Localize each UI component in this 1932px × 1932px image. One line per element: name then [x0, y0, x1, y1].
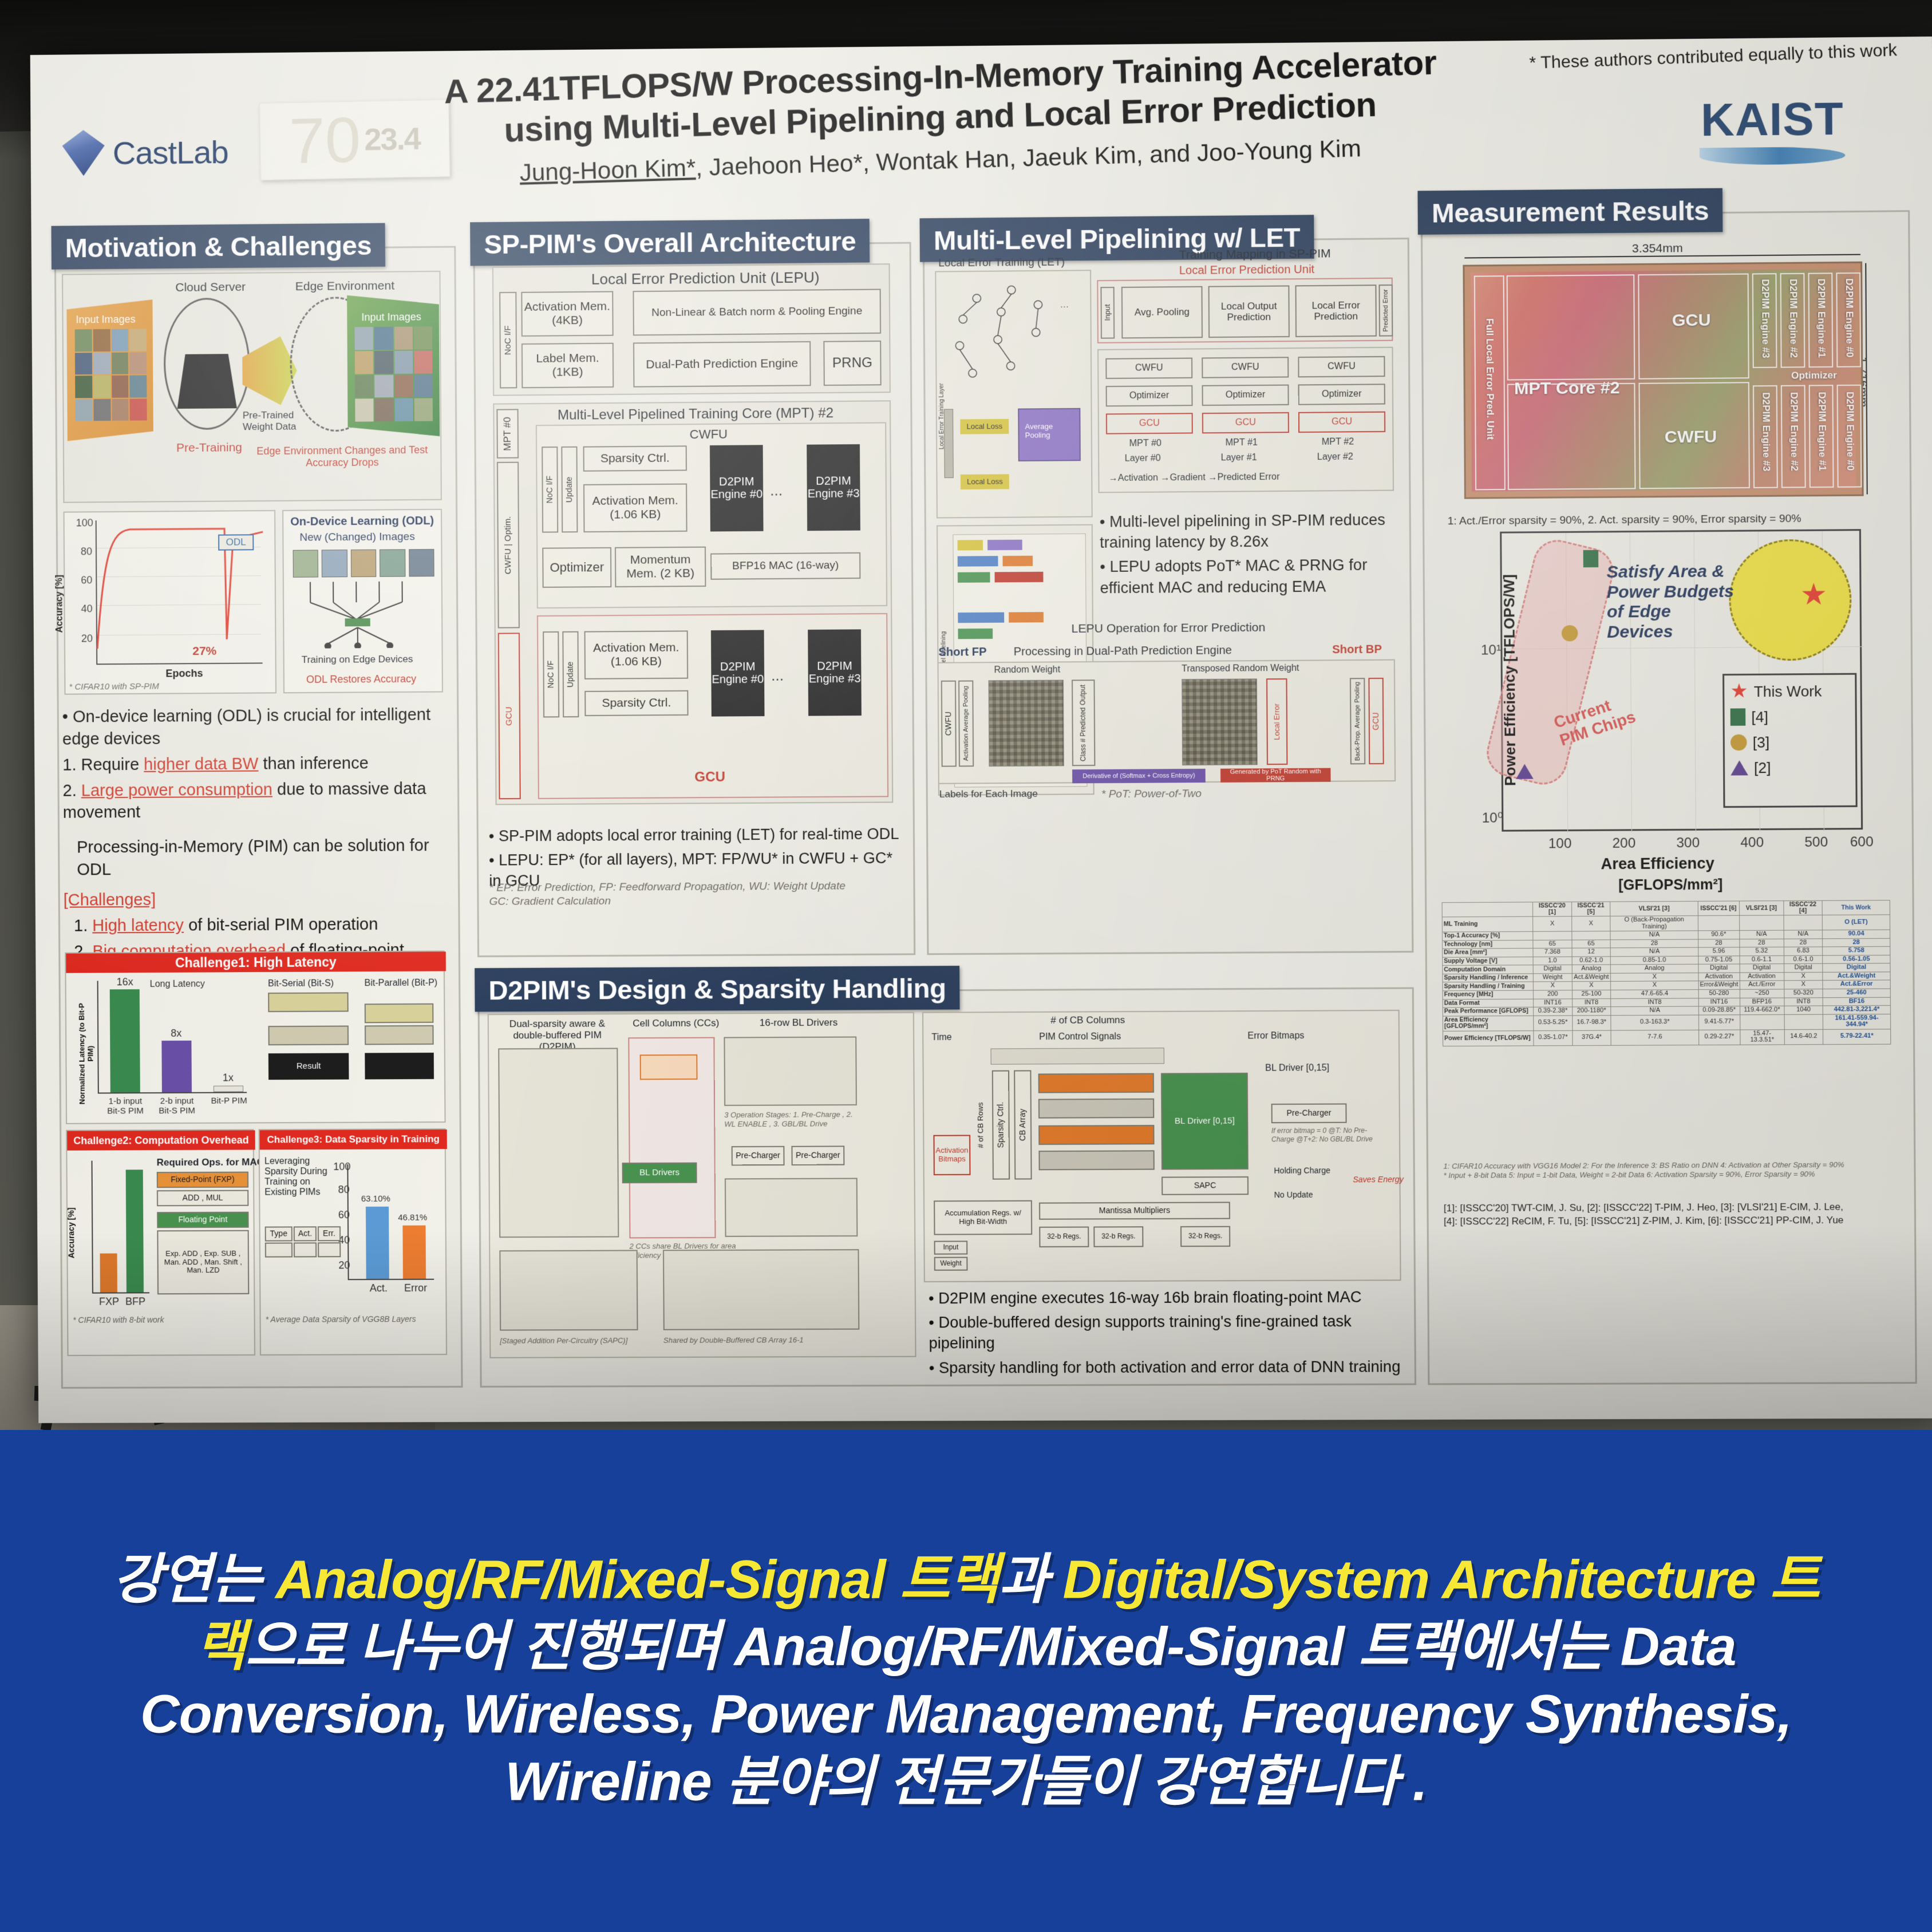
cwfu-sparsity-ctrl: Sparsity Ctrl. [583, 445, 687, 472]
die-label-lepu: Full Local Error Pred. Unit [1483, 318, 1496, 440]
time-label: Time [931, 1033, 951, 1043]
bullet-odl-crucial: • On-device learning (ODL) is crucial fo… [62, 704, 453, 750]
lepu-title: Local Error Prediction Unit (LEPU) [591, 268, 820, 289]
challenge-bullet-1: 1. High latency of bit-serial PIM operat… [74, 913, 454, 937]
caption-segment-0: 강연는 [113, 1549, 276, 1610]
scatter-ylabel: Power Efficiency [TFLOPS/W] [1500, 574, 1520, 786]
challenge1-value-3: 1x [223, 1072, 234, 1084]
challenge3-table-cell-r1c2 [294, 1242, 317, 1257]
mapping-local-output-prediction: Local Output Prediction [1208, 285, 1290, 338]
table-cell: Digital [1823, 963, 1890, 972]
map-optimizer-0: Optimizer [1106, 385, 1193, 406]
mpt2-title: Multi-Level Pipelined Training Core (MPT… [558, 405, 833, 424]
table-cell: 0.85-1.0 [1611, 956, 1698, 965]
short-bp-label: Short BP [1332, 643, 1382, 657]
col-2: ISSCC'21 [5] [1571, 902, 1610, 916]
table-cell: 0.3-163.3* [1611, 1015, 1698, 1030]
scatter-xunit: [GFLOPS/mm²] [1618, 876, 1722, 894]
map-gcu-0: GCU [1106, 413, 1193, 434]
scatter-sparsity-note: 1: Act./Error sparsity = 90%, 2. Act. sp… [1448, 512, 1801, 528]
cb-columns-label: # of CB Columns [1050, 1014, 1125, 1026]
mpt-core-block: MPT #0 CWFU | Optim. GCU Multi-Level Pip… [493, 400, 893, 805]
challenge3-ribbon: Challenge3: Data Sparsity in Training [260, 1129, 447, 1149]
table-cell: Act./Error [1740, 981, 1784, 989]
panel-body-architecture: Local Error Prediction Unit (LEPU) NoC I… [475, 244, 914, 955]
legend-label-ref2: [2] [1754, 758, 1771, 776]
panel-motivation-challenges: Motivation & Challenges Input Images Clo… [54, 246, 463, 1389]
reg-32b-3: 32-b Regs. [1180, 1226, 1230, 1247]
table-row-header: Technology [nm] [1443, 940, 1534, 949]
d2pim-left-region: Dual-sparsity aware & double-buffered PI… [488, 1012, 916, 1358]
map-cwfu-2: CWFU [1298, 356, 1385, 377]
challenge1-bar-2 [161, 1041, 192, 1092]
accuracy-chart-caption: * CIFAR10 with SP-PIM [69, 682, 159, 693]
legend-row-this-work: ★This Work [1730, 678, 1849, 705]
table-cell: 6.83 [1784, 947, 1823, 955]
challenge1-value-2: 8x [171, 1028, 181, 1040]
labels-for-each-image: Labels for Each Image [939, 788, 1038, 800]
table-cell [1740, 1014, 1784, 1030]
gcu-label: GCU [694, 769, 725, 785]
panel-sp-pim-architecture: SP-PIM's Overall Architecture Local Erro… [473, 242, 915, 958]
gcu-noc-if: NoC I/F [543, 631, 559, 718]
die-label-d2pim-b3: D2PIM Engine #3 [1760, 392, 1772, 471]
class-predicted-output: Class # Predicted Output [1072, 679, 1095, 766]
die-label-cwfu: CWFU [1665, 427, 1717, 447]
dual-path-gcu-side: GCU [1368, 678, 1384, 764]
pipelining-footnote: * PoT: Power-of-Two [1101, 787, 1202, 801]
references-list: [1]: [ISSCC'20] TWT-CIM, J. Su, [2]: [IS… [1444, 1200, 1898, 1228]
d2pim-bullet-2: • Double-buffered design supports traini… [929, 1311, 1404, 1354]
satisfy-budget-annotation: Satisfy Area & Power Budgets of Edge Dev… [1606, 562, 1741, 642]
table-cell: X [1784, 972, 1823, 981]
challenge2-ylabel: Accuracy [%] [66, 1207, 76, 1258]
accuracy-drop-label: 27% [192, 645, 216, 658]
transposed-random-weight-label: Transposed Random Weight [1182, 663, 1299, 674]
map-layer-1: Layer #1 [1221, 453, 1257, 464]
table-cell [1739, 915, 1784, 931]
lepu-block: Local Error Prediction Unit (LEPU) NoC I… [492, 263, 891, 396]
table-cell: 5.32 [1739, 947, 1784, 956]
scatter-xlabel: Area Efficiency [1601, 855, 1714, 873]
challenge1-bitparallel-result [365, 1053, 434, 1080]
comparison-table-body: ML TrainingXXO (Back-Propagation Trainin… [1442, 915, 1891, 1046]
challenge3-table-hdr-act: Act. [294, 1226, 317, 1241]
die-cell-mpt-bot [1507, 383, 1636, 490]
challenge1-ylabel: Normalized Latency (to Bit-P PIM) [77, 1002, 95, 1105]
table-cell: Digital [1740, 964, 1784, 973]
comparison-table: ISSCC'20 [1] ISSCC'21 [5] VLSI'21 [3] IS… [1442, 900, 1891, 1046]
table-cell: Digital [1698, 964, 1740, 973]
label-weight-arrow: Pre-Trained Weight Data [243, 409, 306, 433]
caption-segment-2: 과 [999, 1549, 1063, 1610]
challenge3-caption: * Average Data Sparsity of VGG8B Layers [266, 1314, 416, 1325]
challenge1-bitserial-top [268, 992, 349, 1012]
table-cell: 25-460 [1823, 989, 1890, 997]
mapping-input-label: Input [1100, 287, 1115, 339]
let-avg-pooling-tag: Average Pooling [1025, 422, 1071, 440]
table-cell: 0.6-1.0 [1784, 955, 1823, 964]
map-gcu-1: GCU [1202, 412, 1289, 433]
cb-array-cell-2 [1038, 1099, 1154, 1119]
scatter-xtick-600: 600 [1850, 834, 1874, 850]
table-cell: N/A [1610, 931, 1698, 939]
gcu-sparsity-ctrl: Sparsity Ctrl. [584, 690, 688, 716]
table-cell: 0.56-1.05 [1823, 955, 1890, 963]
map-mpt-2: MPT #2 [1322, 437, 1354, 448]
challenge2-row2-title: Floating Point [157, 1212, 248, 1228]
table-row-header: Peak Performance [GFLOPS] [1443, 1007, 1534, 1016]
comparison-table-footnote: 1: CIFAR10 Accuracy with VGG16 Model 2: … [1443, 1160, 1891, 1181]
table-cell: 50-320 [1784, 989, 1823, 998]
svg-text:···: ··· [1060, 302, 1069, 311]
map-mpt-1: MPT #1 [1226, 438, 1258, 449]
dual-path-engine-diagram: CWFU Activation Average Pooling Random W… [938, 659, 1396, 784]
chip-die-photo: Full Local Error Pred. Unit MPT Core #2 … [1464, 263, 1862, 497]
table-cell: X [1784, 981, 1823, 989]
let-graph-icon: ··· [936, 274, 1093, 402]
gcu-activation-mem: Activation Mem. (1.06 KB) [584, 630, 689, 679]
saves-energy-label: Saves Energy [1353, 1175, 1403, 1184]
challenge2-bar-fxp [100, 1254, 117, 1293]
cwfu-optimizer: Optimizer [542, 547, 611, 588]
let-diagram: ··· Local Loss Average Pooling Local Los… [935, 270, 1092, 518]
scatter-ytick-1: 10¹ [1481, 642, 1501, 658]
table-cell: 0.53-5.25* [1534, 1016, 1573, 1031]
sapc-note: [Staged Addition Per-Circuitry (SAPC)] [500, 1336, 627, 1346]
lepu-operation-title: LEPU Operation for Error Prediction [1071, 621, 1265, 636]
mapping-label: Training Mapping in SP-PIM [1179, 247, 1331, 262]
let-diagram-label: Local Error Training (LET) [938, 256, 1065, 270]
challenges-label: [Challenges] [64, 887, 454, 911]
challenge1-bitserial-label: Bit-Serial (Bit-S) [268, 978, 334, 989]
odl-footer: Training on Edge Devices [302, 654, 413, 666]
challenge1-bitserial-result: Result [268, 1053, 349, 1080]
table-cell: 12 [1572, 948, 1611, 957]
table-cell: Analog [1572, 965, 1611, 973]
challenge1-cat-1: 1-b input Bit-S PIM [104, 1096, 147, 1116]
table-cell [1784, 915, 1823, 931]
scatter-point-ref4 [1583, 550, 1599, 567]
odl-title: On-Device Learning (ODL) [290, 515, 434, 529]
challenge3-table-cell-r1c1 [265, 1242, 293, 1257]
d2pim-bullets: • D2PIM engine executes 16-way 16b brain… [929, 1286, 1404, 1381]
die-cell-mpt-top [1507, 274, 1635, 380]
dual-path-activation-side: Activation Average Pooling [958, 681, 974, 767]
cwfu-d2pim-ellipsis: ... [770, 481, 783, 499]
lepu-dual-path-engine: Dual-Path Prediction Engine [633, 341, 811, 388]
caption-segment-4: 으로 나누어 진행되며 Analog/RF/Mixed-Signal 트랙에서는… [140, 1617, 1792, 1812]
conference-poster: CastLab 70 23.4 A 22.41TFLOPS/W Processi… [30, 37, 1932, 1423]
gcu-d2pim-ellipsis: ... [771, 667, 784, 685]
odl-caption: ODL Restores Accuracy [306, 673, 416, 686]
col-7: This Work [1822, 900, 1890, 915]
table-cell: 0.75-1.05 [1698, 956, 1739, 965]
legend-label-ref4: [4] [1751, 708, 1768, 726]
arch-bullet-1: • SP-PIM adopts local error training (LE… [489, 823, 904, 846]
pipeline-bullet-1: • Multi-level pipelining in SP-PIM reduc… [1100, 509, 1396, 554]
challenge1-bitparallel-mid [365, 1025, 434, 1045]
table-cell: 28 [1784, 939, 1823, 947]
scatter-legend: ★This Work [4] [3] [2] [1722, 673, 1858, 808]
table-cell: 161.41-559.94-344.94* [1823, 1014, 1890, 1029]
table-cell: Analog [1611, 965, 1698, 973]
scatter-xtick-500: 500 [1804, 835, 1828, 851]
challenge3-title: Leveraging Sparsity During Training on E… [264, 1156, 334, 1198]
table-cell: 25-100 [1572, 990, 1611, 998]
challenge1-bar-3 [214, 1085, 243, 1092]
table-row-header: Top-1 Accuracy [%] [1442, 931, 1533, 940]
cwfu-bfp16-mac: BFP16 MAC (16-way) [710, 552, 860, 580]
mpt0-box: MPT #0 [496, 409, 519, 459]
label-pre-training: Pre-Training [176, 441, 242, 455]
bl-driver-column: BL Driver [0,15] [1161, 1073, 1249, 1170]
challenge3-bar-err [402, 1226, 426, 1279]
table-cell [1784, 1014, 1823, 1030]
table-cell: 9.41-5.77* [1698, 1014, 1740, 1030]
challenge1-cat-2: 2-b input Bit-S PIM [155, 1096, 199, 1116]
table-cell: 119.4-662.0* [1740, 1006, 1784, 1014]
die-label-d2pim-t1: D2PIM Engine #1 [1815, 278, 1827, 357]
challenge3-block: Challenge3: Data Sparsity in Training Le… [259, 1128, 447, 1356]
panel-d2pim-design: D2PIM's Design & Sparsity Handling Dual-… [477, 987, 1416, 1388]
table-cell: 28 [1698, 939, 1739, 947]
table-cell: BF16 [1823, 997, 1890, 1006]
die-label-d2pim-b1: D2PIM Engine #1 [1816, 392, 1828, 471]
mantissa-multipliers: Mantissa Multipliers [1039, 1202, 1230, 1219]
castlab-diamond-icon [62, 130, 105, 176]
table-cell: Error&Weight [1698, 981, 1740, 990]
table-cell: 5.79-22.41* [1823, 1029, 1891, 1044]
challenge2-caption: * CIFAR10 with 8-bit work [73, 1315, 164, 1325]
scatter-ytick-0: 10⁰ [1482, 809, 1503, 826]
label-edge-environment: Edge Environment [295, 279, 394, 294]
map-cwfu-1: CWFU [1202, 357, 1289, 378]
accuracy-chart-xlabel: Epochs [165, 667, 203, 679]
architecture-footnote: * EP: Error Prediction, FP: Feedforward … [489, 879, 904, 908]
map-gcu-2: GCU [1298, 412, 1385, 433]
pim-control-label: PIM Control Signals [1039, 1032, 1121, 1042]
challenge3-table-hdr-err: Err. [318, 1226, 341, 1241]
equal-contribution-note: * These authors contributed equally to t… [1385, 41, 1898, 78]
bitmap-condition-note: If error bitmap = 0 @T: No Pre-Charge @T… [1271, 1127, 1376, 1144]
table-row: ML TrainingXXO (Back-Propagation Trainin… [1442, 915, 1890, 932]
sapc-right: SAPC [1161, 1176, 1249, 1195]
table-cell: X [1571, 916, 1610, 931]
reg-32b-2: 32-b Regs. [1093, 1226, 1143, 1247]
table-cell: 15.47-13.3.51* [1740, 1029, 1784, 1045]
cwfu-label: CWFU [690, 427, 728, 442]
pipelining-bullets: • Multi-level pipelining in SP-PIM reduc… [1100, 509, 1396, 602]
d2pim-note-2: 3 Operation Stages: 1. Pre-Charge , 2. W… [724, 1110, 857, 1129]
table-cell: 65 [1571, 939, 1610, 948]
panel-body-measurement: 3.354mm 1.716mm Full Local Error Pred. U… [1423, 212, 1915, 1383]
mpt0-gcu: GCU [498, 633, 521, 799]
accuracy-chart-ylabel: Accuracy [%] [54, 575, 65, 633]
no-update-label: No Update [1274, 1190, 1313, 1199]
kaist-logo: KAIST [1699, 92, 1845, 165]
table-row-header: Computation Domain [1443, 965, 1534, 974]
cb-array-cell-4 [1038, 1150, 1154, 1170]
table-cell: Weight [1533, 973, 1572, 982]
legend-circle-icon [1730, 734, 1747, 750]
challenge2-cat-fxp: FXP [99, 1296, 119, 1308]
panel-body-d2pim: Dual-sparsity aware & double-buffered PI… [479, 989, 1415, 1386]
table-cell: 1.0 [1533, 957, 1572, 965]
lepu-map-label: Local Error Prediction Unit [1179, 263, 1315, 278]
isscc-badge: 70 23.4 [259, 99, 450, 180]
die-label-gcu: GCU [1672, 311, 1711, 331]
table-row-header: ML Training [1442, 916, 1533, 932]
die-label-d2pim-t2: D2PIM Engine #2 [1787, 279, 1799, 358]
col-5: VLSI'21 [3] [1739, 901, 1784, 916]
legend-label-ref3: [3] [1753, 733, 1770, 751]
label-input-images-right: Input Images [361, 311, 421, 323]
cwfu-d2pim-engine-3: D2PIM Engine #3 [807, 444, 860, 531]
table-cell: O (LET) [1822, 915, 1890, 930]
table-row: Power Efficiency [TFLOPS/W]0.35-1.07*37G… [1443, 1029, 1890, 1046]
map-layer-2: Layer #2 [1317, 452, 1353, 463]
challenge3-cat-act: Act. [370, 1282, 388, 1294]
challenge3-table-hdr-type: Type [265, 1226, 293, 1241]
gcu-region: NoC I/F Update Activation Mem. (1.06 KB)… [537, 613, 888, 799]
table-row-header: Sparsity Handling / Training [1443, 982, 1534, 990]
korean-caption-bar: 강연는 Analog/RF/Mixed-Signal 트랙과 Digital/S… [0, 1430, 1932, 1932]
challenge2-table-title: Required Ops. for MAC [157, 1156, 264, 1168]
accumulation-regs: Accumulation Regs. w/ High Bit-Width [934, 1200, 1032, 1235]
caption-text: 강연는 Analog/RF/Mixed-Signal 트랙과 Digital/S… [90, 1546, 1842, 1816]
table-cell: 5.758 [1823, 947, 1890, 955]
bl-drivers-box: BL Drivers [622, 1163, 697, 1184]
challenge2-row1-title: Fixed-Point (FXP) [157, 1172, 248, 1188]
cwfu-region: CWFU NoC I/F Update Sparsity Ctrl. Activ… [536, 422, 887, 609]
caption-segment-1: Analog/RF/Mixed-Signal 트랙 [275, 1549, 998, 1610]
legend-triangle-icon [1730, 760, 1748, 775]
first-author: Jung-Hoon Kim* [519, 154, 696, 186]
table-cell: X [1533, 916, 1572, 932]
table-cell: Act.&Weight [1572, 973, 1611, 982]
lepu-nonlinear-engine: Non-Linear & Batch norm & Pooling Engine [633, 289, 881, 335]
table-cell: N/A [1611, 947, 1698, 956]
challenge2-bar-bfp [126, 1170, 144, 1292]
cb-array-label: CB Array [1014, 1070, 1032, 1179]
pre-charger-box-b: Pre-Charger [791, 1145, 844, 1165]
table-cell: 200-1180* [1572, 1007, 1611, 1016]
table-cell: 442.81-3,221.4* [1823, 1005, 1890, 1014]
challenge2-row2-items: Exp. ADD , Exp. SUB , Man. ADD , Man. Sh… [157, 1230, 249, 1295]
short-fp-label: Short FP [938, 646, 986, 659]
table-cell: INT16 [1534, 998, 1573, 1007]
cwfu-d2pim-engine-0: D2PIM Engine #0 [710, 445, 764, 531]
table-cell: Digital [1533, 965, 1572, 974]
lepu-activation-mem: Activation Mem. (4KB) [521, 291, 613, 337]
error-bitmaps-label: Error Bitmaps [1247, 1031, 1304, 1042]
cb-array-cell-3 [1038, 1125, 1154, 1145]
table-cell: 28 [1823, 938, 1890, 947]
table-cell: 0.35-1.07* [1534, 1030, 1573, 1046]
legend-star-icon: ★ [1730, 683, 1748, 700]
bl-driver-label: BL Driver [0,15] [1265, 1063, 1329, 1074]
table-row-header: Sparsity Handling / Inference [1443, 974, 1534, 982]
table-cell: ~250 [1740, 989, 1784, 998]
table-cell: Digital [1784, 964, 1823, 973]
table-cell [1533, 931, 1572, 940]
lepu-prng: PRNG [823, 341, 881, 386]
accuracy-vs-epochs-chart: Accuracy [%] 100 80 60 40 20 27% ODL Epo… [64, 510, 276, 695]
bullet-power-consumption: 2. Large power consumption due to massiv… [62, 777, 453, 824]
comparison-table-wrapper: ISSCC'20 [1] ISSCC'21 [5] VLSI'21 [3] IS… [1442, 900, 1890, 902]
d2pim-right-region: # of CB Columns Time PIM Control Signals… [922, 1010, 1401, 1282]
challenge1-annotation: Long Latency [150, 979, 205, 990]
challenge2-block: Challenge2: Computation Overhead Accurac… [66, 1129, 255, 1356]
cb-array-cell-1 [1038, 1073, 1154, 1093]
legend-square-icon [1730, 708, 1746, 725]
col-0 [1442, 902, 1533, 917]
table-cell: 5.96 [1698, 947, 1739, 956]
cc-title: Cell Columns (CCs) [633, 1017, 719, 1029]
kaist-logo-text: KAIST [1699, 92, 1845, 147]
sparsity-ctrl-right: Sparsity Ctrl. [992, 1070, 1010, 1180]
table-cell: 0.29-2.27* [1698, 1030, 1740, 1045]
pipeline-bullet-2: • LEPU adopts PoT* MAC & PRNG for effici… [1100, 555, 1396, 598]
label-cloud-server: Cloud Server [175, 280, 246, 295]
challenge3-value-err: 46.81% [398, 1213, 427, 1223]
table-cell: 7.368 [1533, 948, 1572, 957]
map-legend: →Activation →Gradient →Predicted Error [1109, 472, 1280, 484]
table-cell: INT8 [1784, 997, 1823, 1006]
table-row-header: Power Efficiency [TFLOPS/W] [1443, 1030, 1534, 1046]
mapping-local-error-prediction: Local Error Prediction [1295, 285, 1377, 337]
challenge1-cat-3: Bit-P PIM [209, 1096, 249, 1105]
challenge1-bitparallel-label: Bit-Parallel (Bit-P) [364, 978, 437, 989]
table-cell: 37G.4* [1572, 1030, 1611, 1046]
mpt-mapping-grid: CWFU CWFU CWFU Optimizer Optimizer Optim… [1097, 347, 1394, 493]
col-4: ISSCC'21 [6] [1698, 901, 1739, 916]
cb-rows-label: # of CB Rows [973, 1070, 987, 1180]
cwfu-activation-mem: Activation Mem. (1.06 KB) [583, 484, 688, 533]
table-cell: Act.&Weight [1823, 972, 1890, 981]
panel-measurement-results: Measurement Results 3.354mm 1.716mm Full… [1421, 210, 1917, 1385]
pre-charger-right: Pre-Charger [1271, 1103, 1347, 1123]
table-cell: 90.6* [1698, 931, 1739, 939]
pre-charger-box-a: Pre-Charger [732, 1146, 785, 1165]
panel-body-pipelining: Local Error Training (LET) ··· Local Los… [924, 239, 1412, 953]
table-cell: Activation [1740, 973, 1784, 981]
table-cell: 0.39-2.38* [1534, 1007, 1573, 1016]
die-label-optimizer: Optimizer [1791, 370, 1837, 382]
scatter-xtick-100: 100 [1548, 836, 1572, 852]
local-error-label: Local Error [1266, 678, 1287, 765]
d2pim-bullet-3: • Sparsity handling for both activation … [929, 1356, 1404, 1378]
challenge1-ribbon: Challenge1: High Latency [66, 951, 446, 973]
bl-title: 16-row BL Drivers [760, 1017, 838, 1029]
table-cell: X [1572, 982, 1611, 990]
die-width-label: 3.354mm [1632, 242, 1683, 256]
table-cell: O (Back-Propagation Training) [1610, 916, 1698, 931]
die-label-mpt-core: MPT Core #2 [1514, 378, 1620, 399]
table-cell: Activation [1698, 973, 1740, 981]
table-cell: N/A [1611, 1006, 1698, 1015]
holding-charge-label: Holding Charge [1274, 1165, 1330, 1175]
activation-bitmaps-label: Activation Bitmaps [933, 1135, 970, 1175]
legend-row-ref3: [3] [1730, 729, 1850, 756]
table-row-header: Area Efficiency [GFLOPS/mm²] [1443, 1016, 1534, 1031]
map-optimizer-1: Optimizer [1202, 385, 1289, 406]
table-row-header: Supply Voltage [V] [1443, 957, 1534, 965]
odl-subtitle: New (Changed) Images [299, 531, 414, 544]
mapping-avg-pooling: Avg. Pooling [1121, 286, 1203, 339]
table-cell: 28 [1611, 939, 1698, 948]
